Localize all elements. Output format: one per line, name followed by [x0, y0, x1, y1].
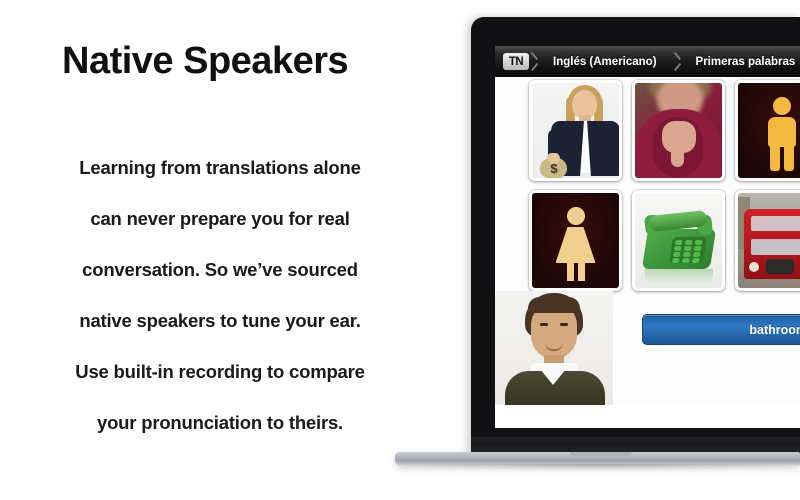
laptop-device: TN Inglés (Americano) Primeras palabras	[395, 0, 800, 500]
phone-key	[684, 246, 692, 251]
image-tile-womens-restroom-sign[interactable]	[529, 190, 622, 291]
breadcrumb: TN Inglés (Americano) Primeras palabras	[495, 46, 800, 77]
native-speaker-avatar	[495, 291, 613, 405]
phone-key	[685, 240, 693, 245]
phone-key	[693, 252, 701, 257]
chevron-right-icon	[529, 46, 539, 77]
phone-key	[694, 246, 702, 251]
breadcrumb-item-lesson[interactable]: Primeras palabras	[682, 56, 800, 68]
green-telephone-photo	[635, 193, 722, 288]
money-bag-woman-photo: $	[532, 83, 619, 178]
thumbs-down-photo	[635, 83, 722, 178]
phone-key	[675, 240, 683, 245]
laptop-shadow	[400, 464, 795, 471]
marketing-body-copy: Learning from translations alone can nev…	[18, 142, 422, 448]
phone-key	[683, 252, 691, 257]
body-line: conversation. So we’ve sourced	[18, 244, 422, 295]
image-tile-red-double-decker-bus[interactable]	[735, 190, 800, 291]
phone-key	[674, 246, 682, 251]
body-line: Learning from translations alone	[18, 142, 422, 193]
app-screen: TN Inglés (Americano) Primeras palabras	[495, 46, 800, 428]
grid-row	[529, 190, 800, 291]
lesson-canvas: $	[495, 77, 800, 405]
red-double-decker-bus-photo	[738, 193, 800, 288]
marketing-panel: Native Speakers Learning from translatio…	[0, 0, 440, 500]
laptop-base-notch	[570, 452, 632, 456]
image-tile-thumbs-down[interactable]	[632, 80, 725, 181]
breadcrumb-item-language[interactable]: Inglés (Americano)	[539, 56, 672, 68]
image-tile-green-telephone[interactable]	[632, 190, 725, 291]
body-line: your pronunciation to theirs.	[18, 397, 422, 448]
phone-key	[692, 258, 700, 263]
page-title: Native Speakers	[62, 40, 348, 83]
answer-button[interactable]: bathroom	[642, 314, 800, 345]
mens-restroom-sign-photo	[738, 83, 800, 178]
grid-row: $	[529, 80, 800, 181]
image-tile-money-bag-woman[interactable]: $	[529, 80, 622, 181]
answer-row: bathroom	[495, 291, 800, 405]
chevron-right-icon	[672, 46, 682, 77]
body-line: can never prepare you for real	[18, 193, 422, 244]
app-logo[interactable]: TN	[503, 53, 529, 70]
body-line: Use built-in recording to compare	[18, 346, 422, 397]
womens-restroom-sign-photo	[532, 193, 619, 288]
phone-key	[695, 240, 703, 245]
phone-key	[672, 258, 680, 263]
image-choice-grid: $	[529, 80, 800, 300]
phone-key	[673, 252, 681, 257]
body-line: native speakers to tune your ear.	[18, 295, 422, 346]
phone-key	[682, 258, 690, 263]
image-tile-mens-restroom-sign[interactable]	[735, 80, 800, 181]
